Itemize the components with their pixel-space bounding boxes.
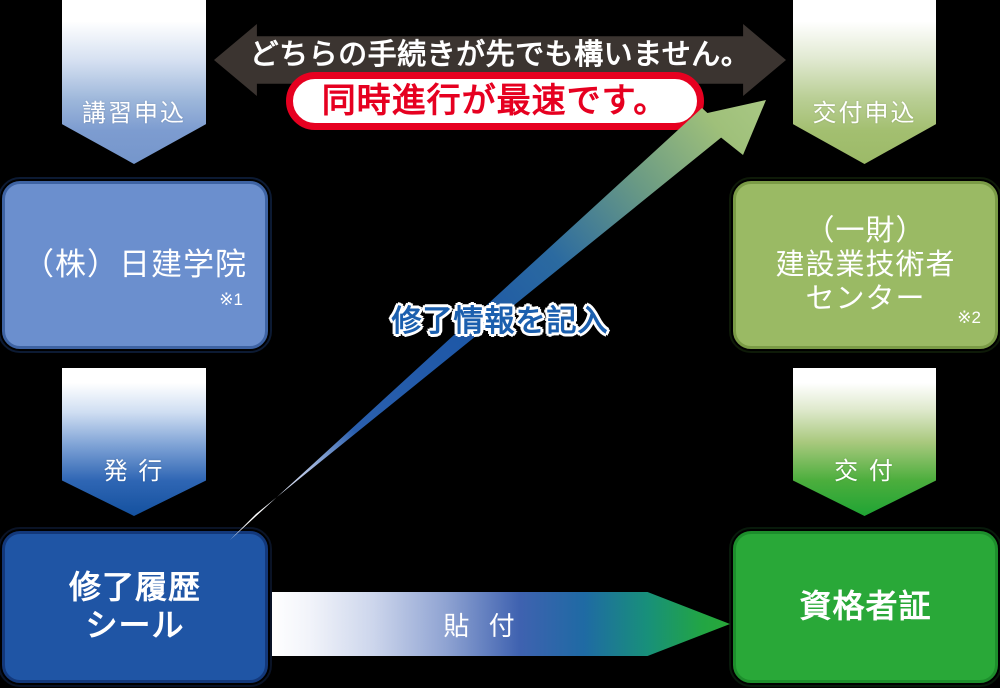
banner-text: どちらの手続きが先でも構いません。 <box>214 28 786 76</box>
step-arrow-label: 交付申込 <box>813 102 917 164</box>
step-arrow-koshu-moshikomi: 講習申込 <box>62 0 206 164</box>
step-arrow-kofu: 交 付 <box>793 368 936 516</box>
step-arrow-label: 講習申込 <box>82 102 186 164</box>
emphasis-badge-label: 同時進行が最速です。 <box>322 84 669 118</box>
step-arrow-kofu-moshikomi: 交付申込 <box>793 0 936 164</box>
step-arrow-label: 交 付 <box>834 460 895 516</box>
bottom-arrow-label: 貼 付 <box>272 592 692 656</box>
step-arrow-hakko: 発 行 <box>62 368 206 516</box>
node-title: 修了履歴 シール <box>69 569 201 645</box>
emphasis-badge: 同時進行が最速です。 <box>286 72 704 130</box>
node-title: 資格者証 <box>799 588 931 626</box>
diagonal-arrow-label: 修了情報を記入 <box>0 296 1000 340</box>
node-shuryo-rireki-seal: 修了履歴 シール <box>2 531 268 683</box>
step-arrow-label: 発 行 <box>104 460 165 516</box>
flow-diagram-canvas: どちらの手続きが先でも構いません。 同時進行が最速です。 講習申込 交付申込 発… <box>0 0 1000 688</box>
node-title: （株）日建学院 <box>23 247 247 284</box>
node-shikakusha-sho: 資格者証 <box>733 531 998 683</box>
